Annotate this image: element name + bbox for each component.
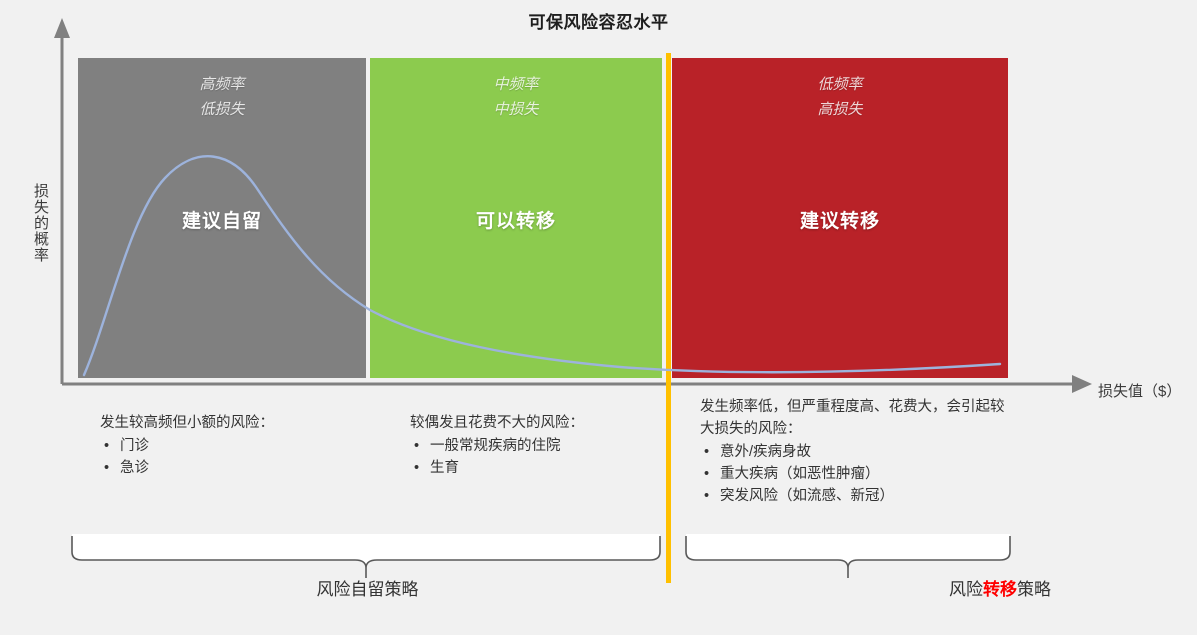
list-item: •生育	[410, 457, 680, 479]
description-transfer: 发生频率低，但严重程度高、花费大，会引起较大损失的风险： •意外/疾病身故 •重…	[700, 396, 1010, 507]
strategy-right-prefix: 风险	[949, 580, 983, 599]
risk-block-retain-advice: 建议自留	[78, 206, 366, 233]
description-retain-list: •门诊 •急诊	[100, 435, 380, 479]
risk-block-transferable[interactable]: 中频率 中损失 可以转移	[370, 58, 662, 378]
list-item-label: 突发风险（如流感、新冠）	[720, 488, 894, 504]
strategy-left-highlight: 自留	[351, 580, 385, 599]
risk-block-transfer-frequency: 低频率 高损失	[672, 72, 1008, 122]
freq-line-2: 低损失	[78, 97, 366, 122]
list-item: •意外/疾病身故	[700, 441, 1010, 463]
brace-left	[72, 536, 660, 578]
brace-left-fill	[72, 534, 660, 578]
freq-line-1: 低频率	[672, 72, 1008, 97]
risk-block-transfer[interactable]: 低频率 高损失 建议转移	[672, 58, 1008, 378]
x-axis-label: 损失值（$）	[1098, 380, 1181, 401]
brace-right	[686, 536, 1010, 578]
risk-block-transferable-frequency: 中频率 中损失	[370, 72, 662, 122]
freq-line-1: 高频率	[78, 72, 366, 97]
risk-blocks: 高频率 低损失 建议自留 中频率 中损失 可以转移 低频率 高损失 建议转移	[78, 58, 1008, 378]
risk-block-transfer-advice: 建议转移	[672, 206, 1008, 233]
bullet-icon: •	[704, 463, 709, 485]
list-item: •突发风险（如流感、新冠）	[700, 485, 1010, 507]
tolerance-threshold-line	[666, 53, 671, 583]
list-item-label: 门诊	[120, 438, 149, 454]
bullet-icon: •	[704, 441, 709, 463]
strategy-left-prefix: 风险	[317, 580, 351, 599]
risk-block-transferable-advice: 可以转移	[370, 206, 662, 233]
strategy-right-highlight: 转移	[983, 580, 1017, 599]
list-item: •急诊	[100, 457, 380, 479]
description-transferable: 较偶发且花费不大的风险： •一般常规疾病的住院 •生育	[410, 412, 680, 479]
description-transferable-head: 较偶发且花费不大的风险：	[410, 412, 680, 434]
strategy-label-transfer: 风险转移策略	[600, 575, 1197, 600]
description-retain: 发生较高频但小额的风险： •门诊 •急诊	[100, 412, 380, 479]
freq-line-1: 中频率	[370, 72, 662, 97]
bullet-icon: •	[104, 435, 109, 457]
brace-right-fill	[686, 534, 1010, 578]
strategy-left-suffix: 策略	[385, 580, 419, 599]
list-item: •重大疾病（如恶性肿瘤）	[700, 463, 1010, 485]
bullet-icon: •	[414, 457, 419, 479]
list-item-label: 重大疾病（如恶性肿瘤）	[720, 466, 880, 482]
list-item: •一般常规疾病的住院	[410, 435, 680, 457]
description-transfer-head: 发生频率低，但严重程度高、花费大，会引起较大损失的风险：	[700, 396, 1010, 440]
list-item-label: 急诊	[120, 460, 149, 476]
diagram-canvas: 可保风险容忍水平 损失的概率 损失值（$） 高频率 低损失 建议自留 中频率 中…	[0, 0, 1197, 635]
bullet-icon: •	[104, 457, 109, 479]
risk-block-retain[interactable]: 高频率 低损失 建议自留	[78, 58, 366, 378]
arrow-right-icon	[1072, 375, 1092, 393]
description-transferable-list: •一般常规疾病的住院 •生育	[410, 435, 680, 479]
freq-line-2: 中损失	[370, 97, 662, 122]
y-axis-label: 损失的概率	[10, 148, 50, 298]
description-retain-head: 发生较高频但小额的风险：	[100, 412, 380, 434]
list-item-label: 一般常规疾病的住院	[430, 438, 561, 454]
list-item-label: 意外/疾病身故	[720, 444, 811, 460]
page-title: 可保风险容忍水平	[0, 8, 1197, 33]
list-item-label: 生育	[430, 460, 459, 476]
risk-block-retain-frequency: 高频率 低损失	[78, 72, 366, 122]
description-transfer-list: •意外/疾病身故 •重大疾病（如恶性肿瘤） •突发风险（如流感、新冠）	[700, 441, 1010, 507]
bullet-icon: •	[704, 485, 709, 507]
strategy-right-suffix: 策略	[1017, 580, 1051, 599]
list-item: •门诊	[100, 435, 380, 457]
bullet-icon: •	[414, 435, 419, 457]
freq-line-2: 高损失	[672, 97, 1008, 122]
